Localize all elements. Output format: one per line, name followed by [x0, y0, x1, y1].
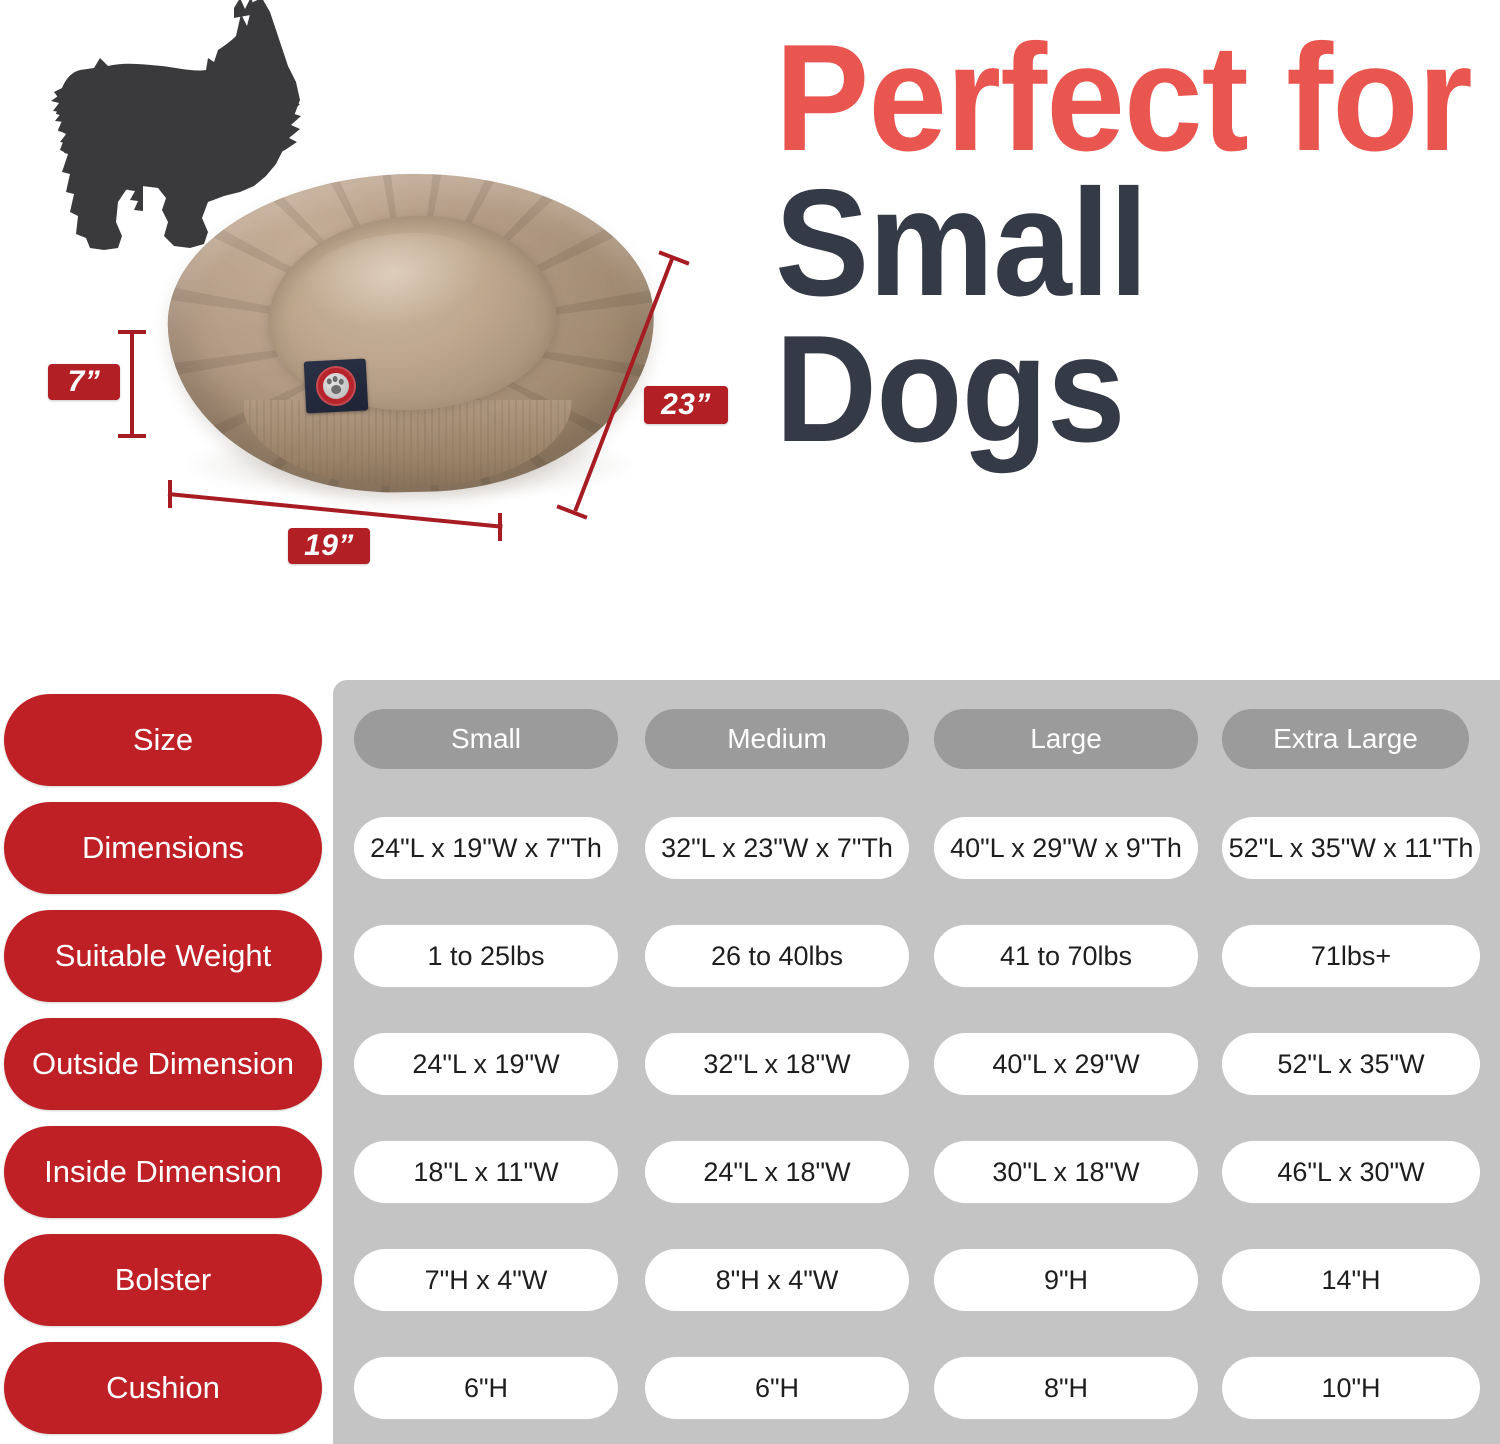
table-cell: 71lbs+	[1222, 925, 1480, 987]
callout-width: 19”	[288, 528, 370, 564]
table-cell: 8"H x 4"W	[645, 1249, 909, 1311]
row-label-inside-dimension: Inside Dimension	[4, 1126, 322, 1218]
table-cell: 26 to 40lbs	[645, 925, 909, 987]
length-tick-top	[658, 250, 689, 265]
headline-line-3: Dogs	[775, 319, 1440, 460]
height-tick-top	[118, 330, 146, 334]
table-cell: 18"L x 11"W	[354, 1141, 618, 1203]
table-cell: 52"L x 35"W x 11"Th	[1222, 817, 1480, 879]
row-label-cushion: Cushion	[4, 1342, 322, 1434]
page-title: Perfect for Small Dogs	[775, 28, 1490, 460]
table-cell: 32"L x 18"W	[645, 1033, 909, 1095]
callout-height: 7”	[48, 364, 120, 400]
column-header-small: Small	[354, 709, 618, 769]
table-row-label-column: Size Dimensions Suitable Weight Outside …	[2, 668, 324, 1444]
table-cell: 14"H	[1222, 1249, 1480, 1311]
length-tick-bottom	[556, 504, 587, 519]
table-cell: 8"H	[934, 1357, 1198, 1419]
brand-logo-ring	[315, 365, 357, 407]
table-cell: 6"H	[645, 1357, 909, 1419]
table-cell: 40"L x 29"W	[934, 1033, 1198, 1095]
headline-line-2: Small	[775, 173, 1440, 314]
table-cell: 32"L x 23"W x 7"Th	[645, 817, 909, 879]
callout-length: 23”	[644, 386, 728, 424]
table-cell: 1 to 25lbs	[354, 925, 618, 987]
row-label-dimensions: Dimensions	[4, 802, 322, 894]
table-cell: 7"H x 4"W	[354, 1249, 618, 1311]
table-cell: 52"L x 35"W	[1222, 1033, 1480, 1095]
height-dimension-line	[130, 330, 134, 438]
table-cell: 46"L x 30"W	[1222, 1141, 1480, 1203]
table-cell: 9"H	[934, 1249, 1198, 1311]
height-tick-bottom	[118, 434, 146, 438]
paw-print-icon	[322, 372, 349, 399]
table-cell: 40"L x 29"W x 9"Th	[934, 817, 1198, 879]
width-tick-right	[498, 513, 502, 541]
table-cell: 10"H	[1222, 1357, 1480, 1419]
row-label-suitable-weight: Suitable Weight	[4, 910, 322, 1002]
specification-table: Size Dimensions Suitable Weight Outside …	[0, 668, 1500, 1444]
table-cell: 6"H	[354, 1357, 618, 1419]
column-header-large: Large	[934, 709, 1198, 769]
headline-line-1: Perfect for	[775, 28, 1440, 169]
table-cell: 30"L x 18"W	[934, 1141, 1198, 1203]
row-label-size: Size	[4, 694, 322, 786]
row-label-outside-dimension: Outside Dimension	[4, 1018, 322, 1110]
table-cell: 24"L x 19"W	[354, 1033, 618, 1095]
table-cell: 41 to 70lbs	[934, 925, 1198, 987]
hero-section: 7” 19” 23” Perfect for Small Dogs	[0, 0, 1500, 668]
column-header-medium: Medium	[645, 709, 909, 769]
width-tick-left	[168, 480, 172, 508]
row-label-bolster: Bolster	[4, 1234, 322, 1326]
table-cell: 24"L x 18"W	[645, 1141, 909, 1203]
majestic-pet-brand-tag	[304, 358, 369, 413]
column-header-extra-large: Extra Large	[1222, 709, 1469, 769]
table-cell: 24"L x 19"W x 7"Th	[354, 817, 618, 879]
